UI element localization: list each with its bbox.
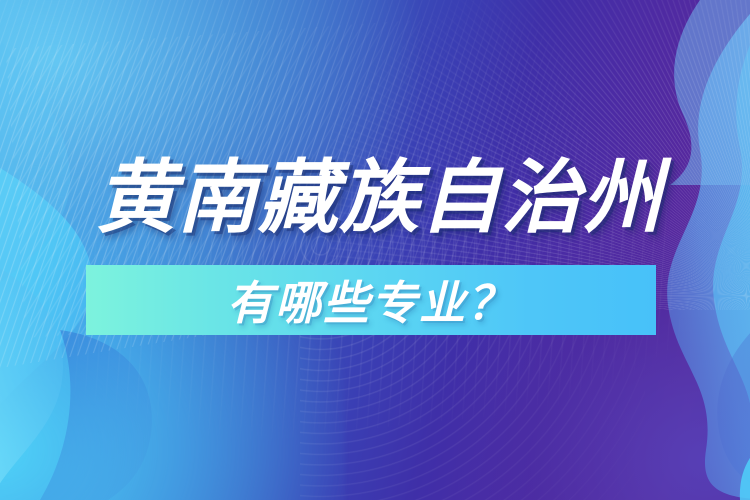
banner-title: 黄南藏族自治州 [96,148,663,248]
banner-subtitle: 有哪些专业？ [86,265,656,335]
arc-line-texture-bottom [300,220,645,500]
promo-banner: 黄南藏族自治州 有哪些专业？ [0,0,750,500]
